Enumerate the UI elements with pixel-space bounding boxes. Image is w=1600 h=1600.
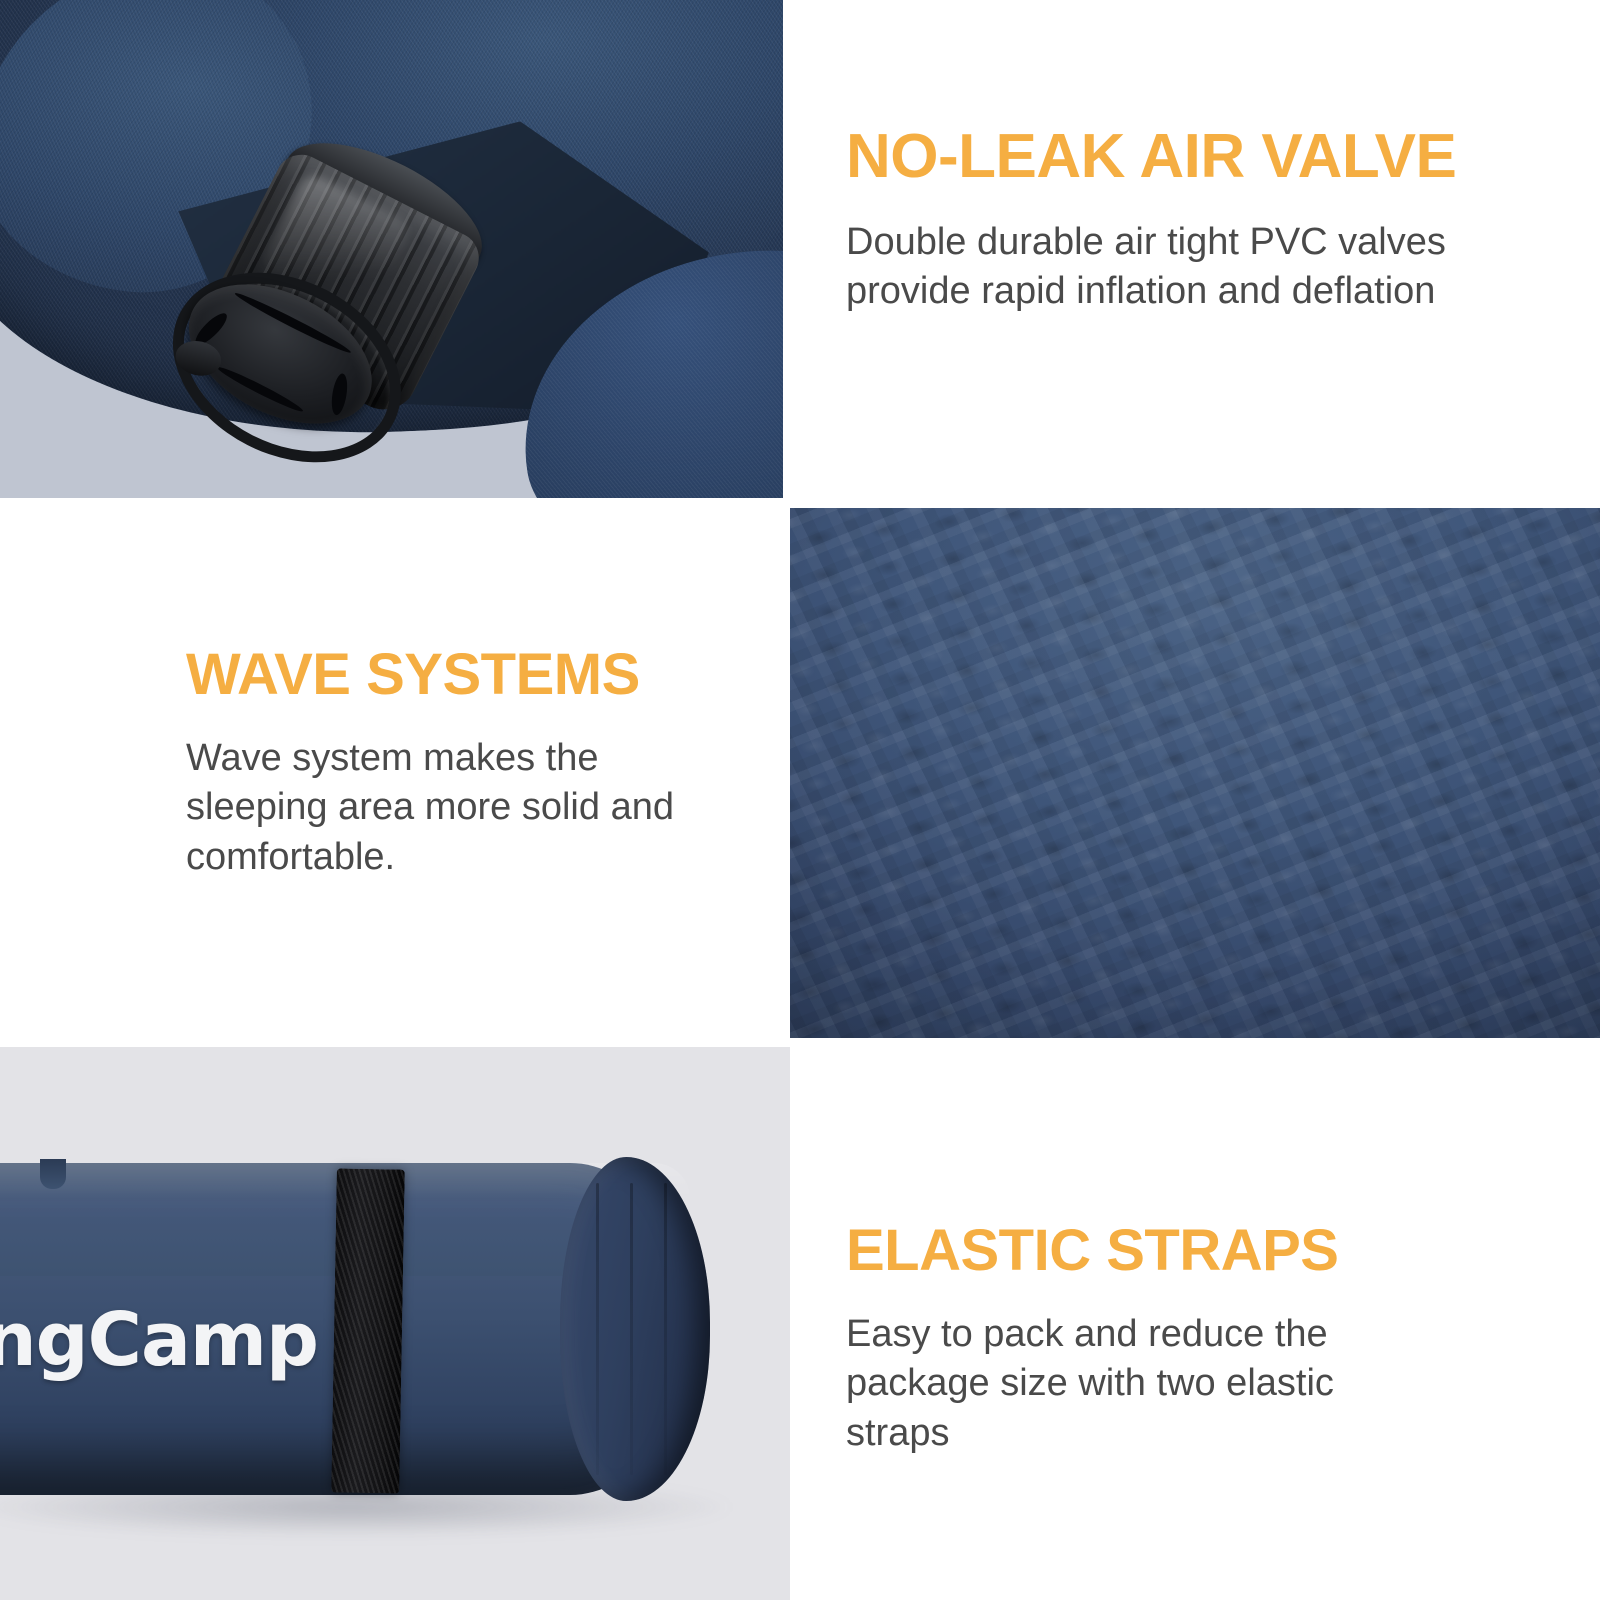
rolled-mat-photo-panel: ngCamp <box>0 1045 790 1600</box>
feature-text-elastic-straps: ELASTIC STRAPS Easy to pack and reduce t… <box>846 1222 1546 1458</box>
wave-fabric-photo-panel <box>790 505 1600 1045</box>
feature-heading: WAVE SYSTEMS <box>186 646 786 704</box>
mat-end-cap <box>560 1157 710 1501</box>
elastic-strap <box>331 1168 405 1493</box>
feature-heading: NO-LEAK AIR VALVE <box>846 126 1546 188</box>
brand-logo: ngCamp <box>0 1297 318 1383</box>
feature-text-no-leak-air-valve: NO-LEAK AIR VALVE Double durable air tig… <box>846 126 1546 317</box>
product-feature-infographic: ngCamp NO-LEAK AIR VALVE Double durable … <box>0 0 1600 1600</box>
panel-divider-horizontal <box>0 1038 1600 1047</box>
panel-divider-horizontal <box>0 498 1600 508</box>
mat-pleat <box>664 1183 667 1475</box>
feature-description: Wave system makes the sleeping area more… <box>186 734 746 882</box>
mat-pleat <box>596 1183 599 1475</box>
mat-pleat <box>630 1183 633 1475</box>
feature-description: Double durable air tight PVC valves prov… <box>846 218 1446 317</box>
feature-description: Easy to pack and reduce the package size… <box>846 1310 1426 1458</box>
wave-vignette <box>790 505 1600 1045</box>
valve-slot <box>329 372 349 416</box>
valve-photo-panel <box>0 0 790 505</box>
feature-text-wave-systems: WAVE SYSTEMS Wave system makes the sleep… <box>186 646 786 882</box>
feature-heading: ELASTIC STRAPS <box>846 1222 1546 1280</box>
panel-divider-vertical <box>783 0 792 505</box>
mat-seam <box>40 1159 66 1189</box>
